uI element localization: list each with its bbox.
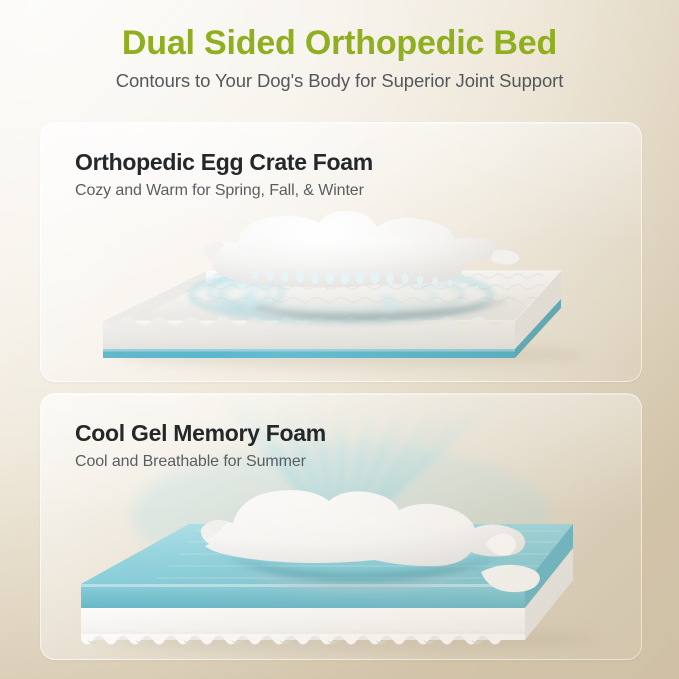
page-subtitle: Contours to Your Dog's Body for Superior… bbox=[0, 70, 679, 92]
card-one-subtitle: Cozy and Warm for Spring, Fall, & Winter bbox=[75, 182, 373, 200]
card-one-title: Orthopedic Egg Crate Foam bbox=[75, 149, 373, 176]
card-two-title: Cool Gel Memory Foam bbox=[75, 420, 326, 447]
card-two-subtitle: Cool and Breathable for Summer bbox=[75, 453, 326, 471]
card-one-header: Orthopedic Egg Crate Foam Cozy and Warm … bbox=[75, 149, 373, 200]
header: Dual Sided Orthopedic Bed Contours to Yo… bbox=[0, 24, 679, 92]
page-title: Dual Sided Orthopedic Bed bbox=[0, 24, 679, 62]
card-orthopedic-egg-crate-foam: Orthopedic Egg Crate Foam Cozy and Warm … bbox=[40, 122, 642, 382]
card-cool-gel-memory-foam: Cool Gel Memory Foam Cool and Breathable… bbox=[40, 393, 642, 660]
card-two-header: Cool Gel Memory Foam Cool and Breathable… bbox=[75, 420, 326, 471]
infographic-canvas: Dual Sided Orthopedic Bed Contours to Yo… bbox=[0, 0, 679, 679]
